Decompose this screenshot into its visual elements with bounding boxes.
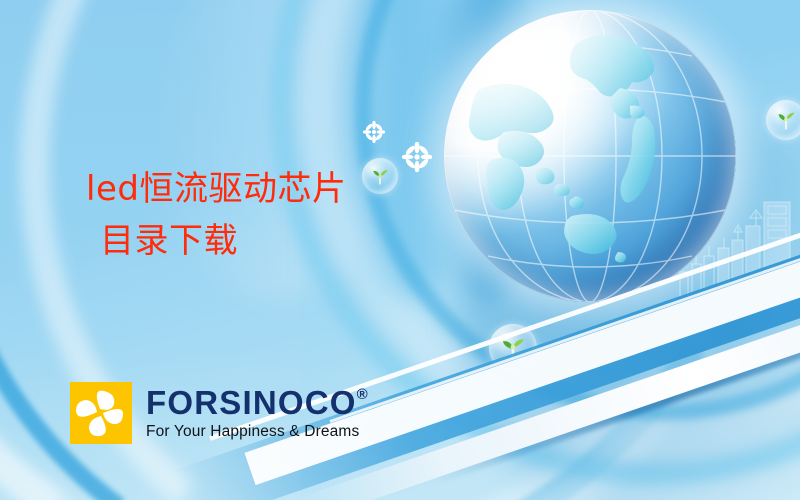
brand-text: FORSINOCO [146, 386, 357, 419]
starburst-small [363, 121, 385, 143]
swoosh-dark-edge [427, 288, 800, 485]
globe-rim-light [444, 10, 736, 302]
headline-line-1: led恒流驱动芯片 [86, 164, 346, 216]
headline-block: led恒流驱动芯片 目录下载 [86, 164, 346, 267]
registered-trademark-icon: ® [357, 387, 369, 402]
green-sprout-icon [501, 337, 525, 361]
bubble-with-sprout-left [362, 158, 398, 194]
logo-wordmark: FORSINOCO® For Your Happiness & Dreams [146, 386, 369, 440]
earth-globe-graphic [444, 10, 736, 302]
four-petal-pinwheel-mark [70, 382, 132, 444]
green-sprout-icon [371, 168, 389, 186]
promotional-banner: led恒流驱动芯片 目录下载 FORSINOCO® For Your Happi… [0, 0, 800, 500]
green-sprout-icon [776, 111, 796, 131]
brand-name: FORSINOCO® [146, 386, 369, 419]
brand-tagline: For Your Happiness & Dreams [146, 424, 369, 440]
pinwheel-petals-icon [70, 382, 132, 444]
starburst-large [402, 142, 432, 172]
bubble-with-sprout-right [766, 100, 800, 140]
bubble-with-sprout-lower [489, 324, 537, 372]
company-logo-lockup: FORSINOCO® For Your Happiness & Dreams [70, 382, 369, 444]
headline-line-2: 目录下载 [86, 216, 346, 268]
